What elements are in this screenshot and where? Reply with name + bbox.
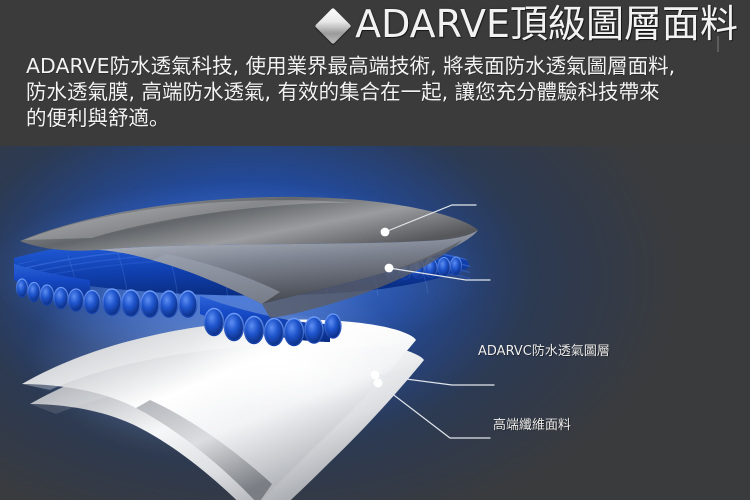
diamond-icon	[315, 8, 352, 45]
intro-line-2: 防水透氣膜, 高端防水透氣, 有效的集合在一起, 讓您充分體驗科技帶來	[26, 80, 732, 106]
callout-label-outer-shell: ADARVC防水透氣圖層	[478, 343, 610, 360]
fiber-tube-row-mid	[103, 289, 197, 317]
fabric-layer-cutaway-diagram	[0, 146, 750, 500]
page-title: ADARVE頂級圖層面料	[355, 2, 738, 46]
callout-1-line-1: ADARVC防水透氣圖層	[478, 343, 610, 360]
anchor-dot-2	[385, 264, 394, 273]
intro-line-3: 的便利與舒適。	[26, 106, 732, 132]
intro-line-1: ADARVE防水透氣科技, 使用業界最高端技術, 將表面防水透氣圖層面料,	[26, 54, 732, 80]
anchor-dot-4	[374, 379, 383, 388]
diagram-stage: ADARVC防水透氣圖層 高端纖維面料 高端防水透氣 防水指數5000透氣指數5…	[0, 146, 750, 500]
anchor-dot-1	[381, 228, 390, 237]
callout-2-line-1: 高端纖維面料	[493, 417, 571, 434]
product-infographic: ADARVE頂級圖層面料 ADARVE防水透氣科技, 使用業界最高端技術, 將表…	[0, 0, 750, 500]
header-banner: ADARVE頂級圖層面料 ADARVE防水透氣科技, 使用業界最高端技術, 將表…	[0, 0, 750, 146]
callout-label-fiber-mesh: 高端纖維面料	[493, 417, 571, 434]
anchor-dot-3	[371, 371, 380, 380]
decorative-tick-mark	[717, 36, 719, 52]
title-row: ADARVE頂級圖層面料	[320, 2, 738, 46]
intro-paragraph: ADARVE防水透氣科技, 使用業界最高端技術, 將表面防水透氣圖層面料, 防水…	[26, 54, 732, 131]
